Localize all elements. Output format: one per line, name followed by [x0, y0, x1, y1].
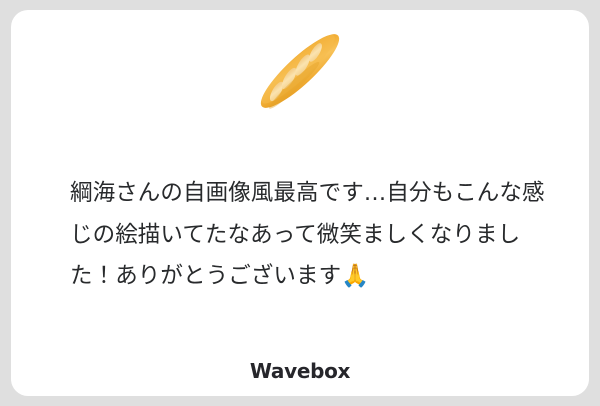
brand-footer: Wavebox [11, 359, 589, 383]
message-text: 綱海さんの自画像風最高です…自分もこんな感じの絵描いてたなあって微笑ましくなりま… [70, 173, 548, 298]
message-card: 🥖 綱海さんの自画像風最高です…自分もこんな感じの絵描いてたなあって微笑ましくな… [11, 10, 589, 396]
baguette-bread-icon [240, 22, 360, 120]
wavebox-wordmark: Wavebox [250, 359, 350, 383]
baguette-bread-icon-wrap [11, 22, 589, 120]
page-root: 🥖 綱海さんの自画像風最高です…自分もこんな感じの絵描いてたなあって微笑ましくな… [0, 0, 600, 406]
